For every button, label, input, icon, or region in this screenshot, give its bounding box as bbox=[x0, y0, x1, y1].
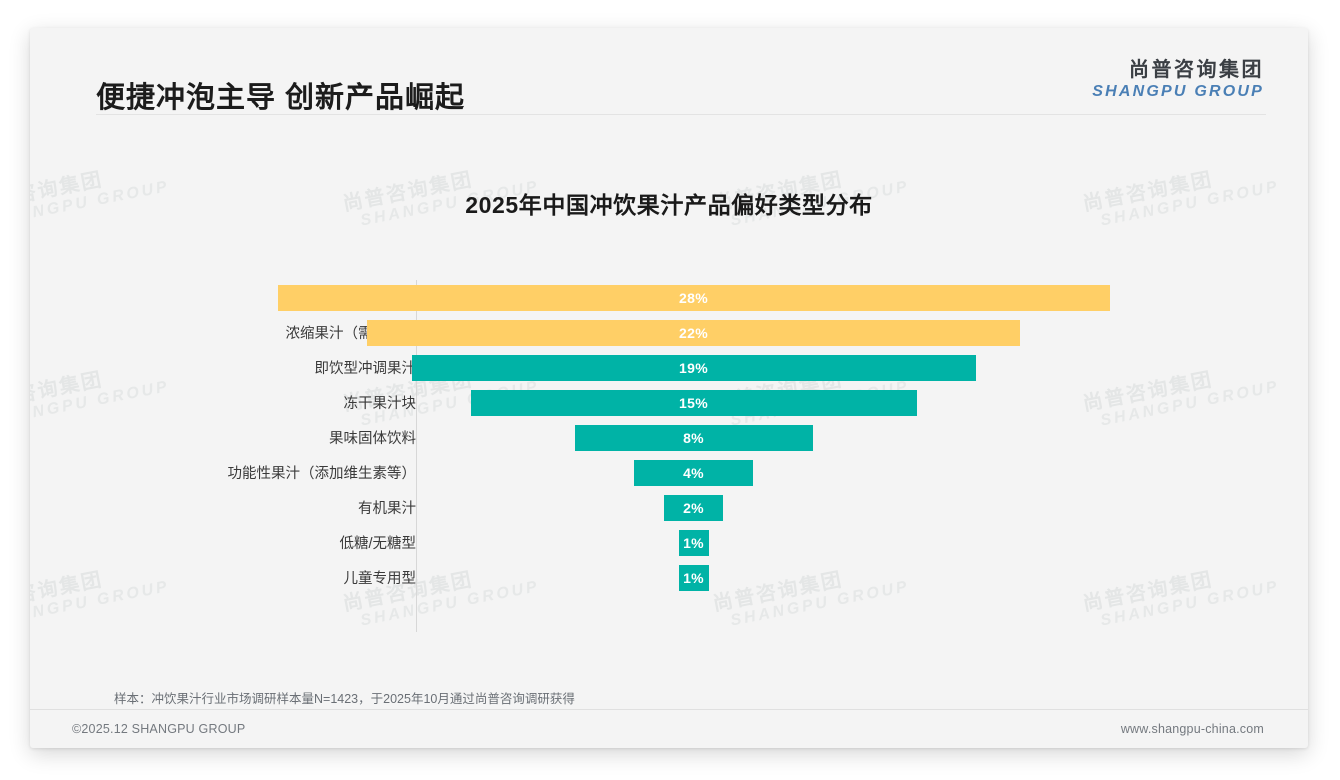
funnel-value-label: 4% bbox=[683, 465, 704, 481]
funnel-bar[interactable]: 2% bbox=[664, 495, 723, 521]
funnel-bar-track: 2% bbox=[417, 490, 1308, 525]
funnel-bar[interactable]: 28% bbox=[278, 285, 1110, 311]
funnel-bar[interactable]: 22% bbox=[367, 320, 1020, 346]
funnel-row[interactable]: 冻干果汁块15% bbox=[30, 385, 1308, 420]
chart-title: 2025年中国冲饮果汁产品偏好类型分布 bbox=[30, 186, 1308, 220]
funnel-category-label: 儿童专用型 bbox=[30, 567, 416, 588]
funnel-value-label: 2% bbox=[683, 500, 704, 516]
brand-logo-en: SHANGPU GROUP bbox=[1092, 83, 1264, 100]
funnel-category-label: 浓缩果汁（需稀释） bbox=[30, 322, 416, 343]
funnel-value-label: 22% bbox=[679, 325, 708, 341]
funnel-bar-track: 15% bbox=[417, 385, 1308, 420]
funnel-bar[interactable]: 19% bbox=[412, 355, 976, 381]
funnel-bar-track: 1% bbox=[417, 525, 1308, 560]
website-link[interactable]: www.shangpu-china.com bbox=[1121, 722, 1264, 736]
funnel-row[interactable]: 功能性果汁（添加维生素等）4% bbox=[30, 455, 1308, 490]
funnel-bar-track: 4% bbox=[417, 455, 1308, 490]
funnel-bar[interactable]: 1% bbox=[679, 530, 709, 556]
slide-header: 便捷冲泡主导 创新产品崛起 尚普咨询集团 SHANGPU GROUP bbox=[30, 28, 1308, 120]
funnel-value-label: 15% bbox=[679, 395, 708, 411]
funnel-value-label: 8% bbox=[683, 430, 704, 446]
funnel-bar-track: 8% bbox=[417, 420, 1308, 455]
funnel-row[interactable]: 即饮型冲调果汁19% bbox=[30, 350, 1308, 385]
funnel-category-label: 冻干果汁块 bbox=[30, 392, 416, 413]
funnel-row[interactable]: 果汁粉（需冲泡）28% bbox=[30, 280, 1308, 315]
funnel-row[interactable]: 低糖/无糖型1% bbox=[30, 525, 1308, 560]
funnel-bar-track: 22% bbox=[417, 315, 1308, 350]
brand-logo-cn: 尚普咨询集团 bbox=[1092, 60, 1264, 82]
chart-area: 2025年中国冲饮果汁产品偏好类型分布 果汁粉（需冲泡）28%浓缩果汁（需稀释）… bbox=[30, 128, 1308, 658]
funnel-bar[interactable]: 1% bbox=[679, 565, 709, 591]
funnel-bar[interactable]: 4% bbox=[634, 460, 753, 486]
funnel-bar-track: 19% bbox=[417, 350, 1308, 385]
funnel-value-label: 1% bbox=[683, 570, 704, 586]
funnel-category-label: 果味固体饮料 bbox=[30, 427, 416, 448]
slide-footer: ©2025.12 SHANGPU GROUP www.shangpu-china… bbox=[30, 710, 1308, 748]
page-title: 便捷冲泡主导 创新产品崛起 bbox=[96, 74, 465, 116]
funnel-value-label: 19% bbox=[679, 360, 708, 376]
funnel-bar-track: 28% bbox=[417, 280, 1308, 315]
copyright-text: ©2025.12 SHANGPU GROUP bbox=[72, 722, 245, 736]
funnel-row[interactable]: 浓缩果汁（需稀释）22% bbox=[30, 315, 1308, 350]
header-divider bbox=[96, 114, 1266, 115]
funnel-bar[interactable]: 15% bbox=[471, 390, 917, 416]
funnel-category-label: 即饮型冲调果汁 bbox=[30, 357, 416, 378]
brand-logo: 尚普咨询集团 SHANGPU GROUP bbox=[1092, 60, 1264, 100]
slide-card: 尚普咨询集团SHANGPU GROUP尚普咨询集团SHANGPU GROUP尚普… bbox=[30, 28, 1308, 748]
funnel-chart: 果汁粉（需冲泡）28%浓缩果汁（需稀释）22%即饮型冲调果汁19%冻干果汁块15… bbox=[30, 280, 1308, 640]
funnel-row[interactable]: 果味固体饮料8% bbox=[30, 420, 1308, 455]
funnel-category-label: 低糖/无糖型 bbox=[30, 532, 416, 553]
funnel-value-label: 1% bbox=[683, 535, 704, 551]
funnel-bar[interactable]: 8% bbox=[575, 425, 813, 451]
funnel-row[interactable]: 有机果汁2% bbox=[30, 490, 1308, 525]
funnel-value-label: 28% bbox=[679, 290, 708, 306]
funnel-bar-track: 1% bbox=[417, 560, 1308, 595]
sample-footnote: 样本：冲饮果汁行业市场调研样本量N=1423，于2025年10月通过尚普咨询调研… bbox=[114, 688, 575, 707]
funnel-category-label: 有机果汁 bbox=[30, 497, 416, 518]
funnel-row[interactable]: 儿童专用型1% bbox=[30, 560, 1308, 595]
funnel-category-label: 功能性果汁（添加维生素等） bbox=[30, 462, 416, 483]
